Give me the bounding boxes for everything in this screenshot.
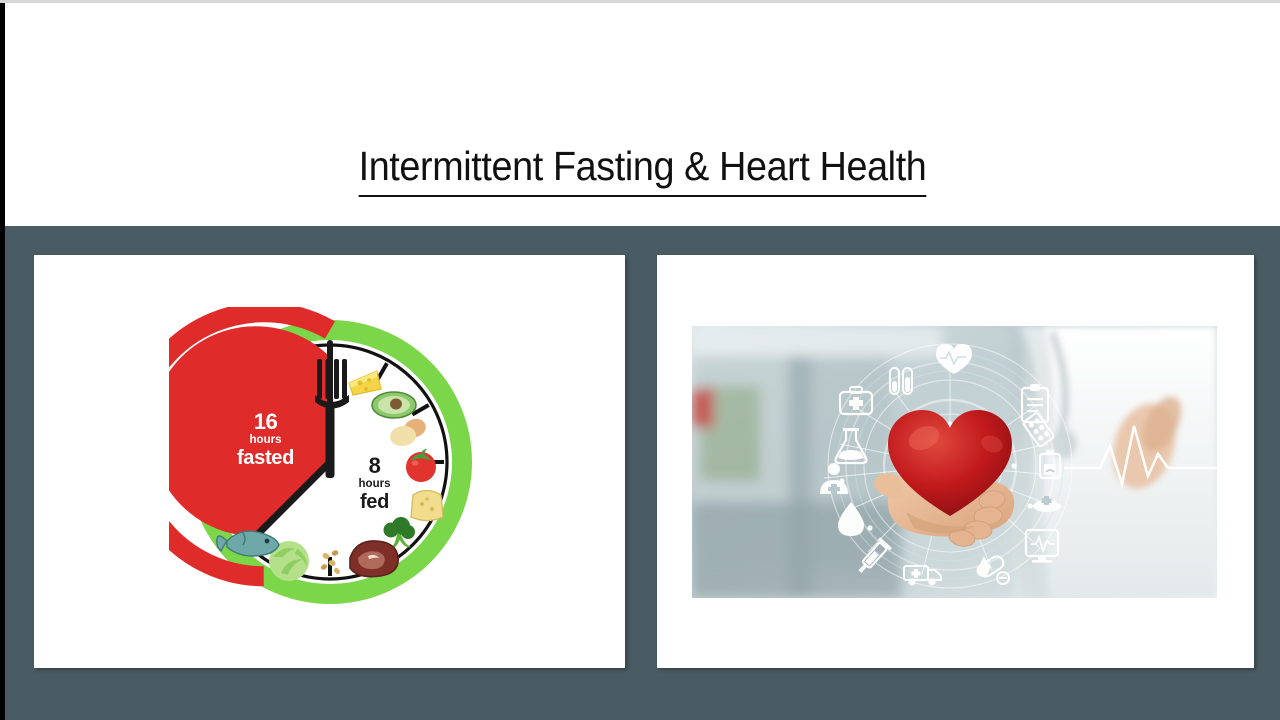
fasting-clock-infographic: 16 hours fasted 8 hours fed xyxy=(169,307,491,617)
page-title-text: Intermittent Fasting & Heart Health xyxy=(359,143,927,197)
fed-label: 8 hours fed xyxy=(337,455,413,513)
page-title: Intermittent Fasting & Heart Health xyxy=(56,143,1229,197)
slide-left-border xyxy=(0,0,5,720)
avocado-icon xyxy=(372,392,416,418)
heart-health-photo-card[interactable] xyxy=(657,255,1254,668)
heart-health-image xyxy=(692,326,1217,598)
presentation-slide: Intermittent Fasting & Heart Health xyxy=(0,0,1280,720)
title-band: Intermittent Fasting & Heart Health xyxy=(5,3,1280,226)
steak-icon xyxy=(350,540,398,576)
slide-top-border xyxy=(0,0,1280,3)
bread-slice-icon xyxy=(411,490,443,520)
heart-health-photo xyxy=(692,326,1217,598)
fasted-label: 16 hours fasted xyxy=(217,411,315,469)
fasting-clock-card[interactable]: 16 hours fasted 8 hours fed xyxy=(34,255,625,668)
